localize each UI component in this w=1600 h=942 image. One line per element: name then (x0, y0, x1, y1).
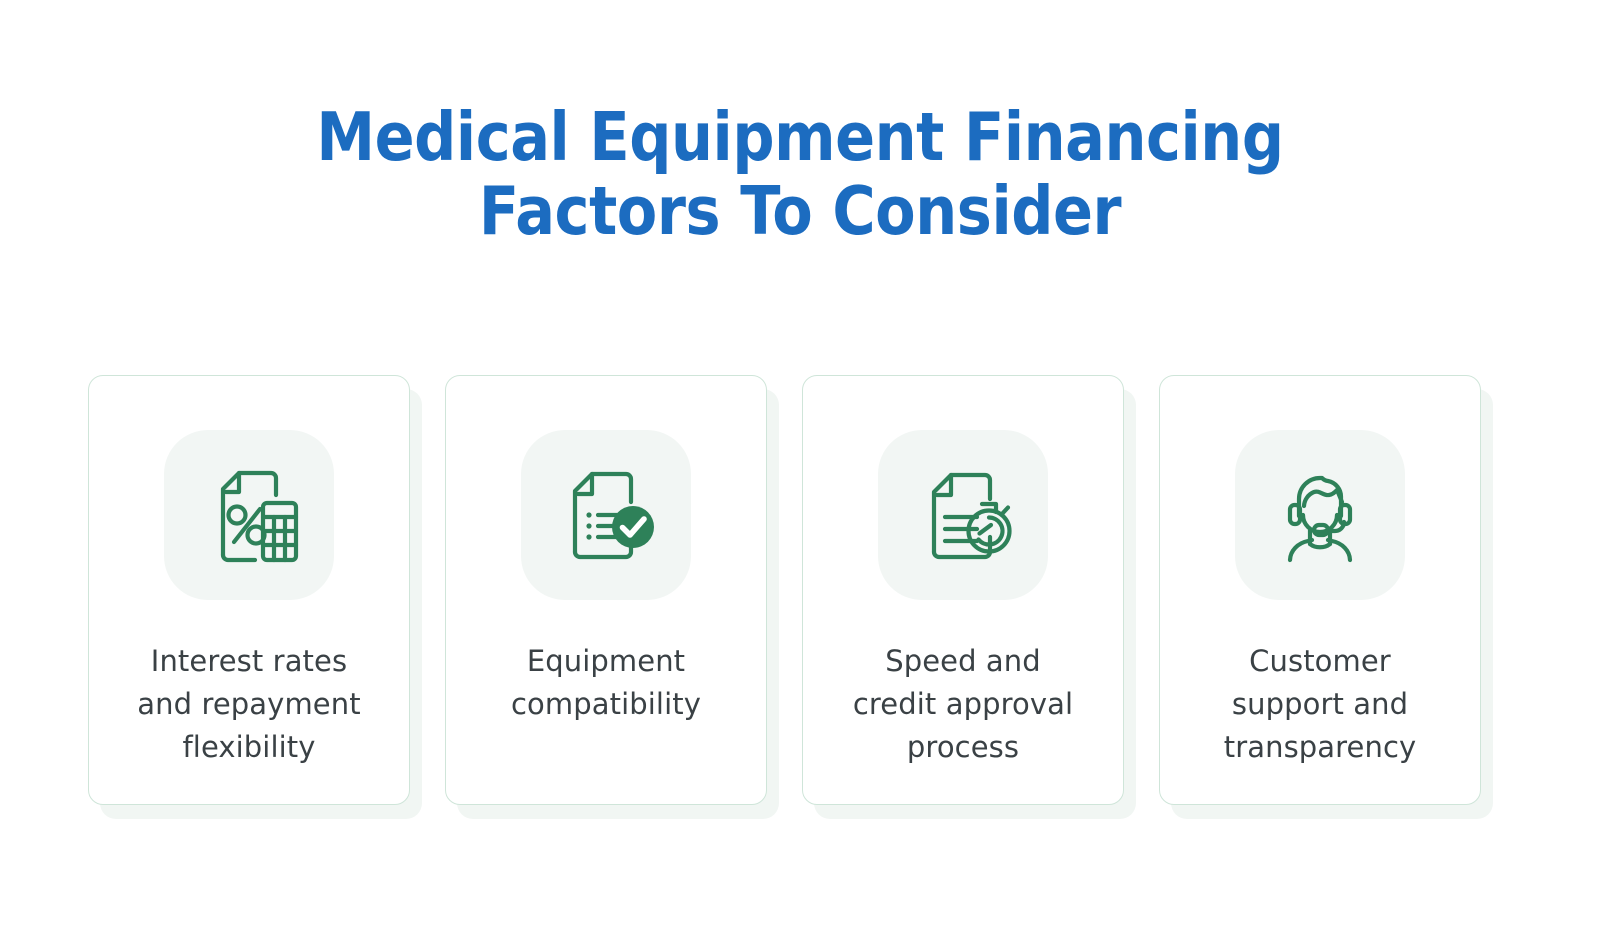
checklist-document-approved-icon (550, 459, 662, 571)
infographic-page: Medical Equipment Financing Factors To C… (0, 0, 1600, 942)
factor-card-label: Speed and credit approval process (833, 640, 1093, 769)
icon-tile (878, 430, 1048, 600)
icon-tile (164, 430, 334, 600)
factor-card-wrapper: Interest rates and repayment flexibility (88, 375, 410, 805)
factor-card-customer-support[interactable]: Customer support and transparency (1159, 375, 1481, 805)
factor-card-wrapper: Equipment compatibility (445, 375, 767, 805)
factor-card-label: Interest rates and repayment flexibility (119, 640, 379, 769)
factor-card-interest-rates[interactable]: Interest rates and repayment flexibility (88, 375, 410, 805)
page-title-line-1: Medical Equipment Financing (96, 100, 1504, 174)
factor-card-speed-approval[interactable]: Speed and credit approval process (802, 375, 1124, 805)
factor-card-wrapper: Customer support and transparency (1159, 375, 1481, 805)
icon-tile (521, 430, 691, 600)
document-stopwatch-icon (907, 459, 1019, 571)
page-title-line-2: Factors To Consider (96, 174, 1504, 248)
page-title: Medical Equipment Financing Factors To C… (0, 100, 1600, 248)
factor-card-label: Equipment compatibility (476, 640, 736, 726)
percent-document-calculator-icon (193, 459, 305, 571)
headset-support-agent-icon (1264, 459, 1376, 571)
factor-card-equipment-compatibility[interactable]: Equipment compatibility (445, 375, 767, 805)
factor-card-label: Customer support and transparency (1190, 640, 1450, 769)
icon-tile (1235, 430, 1405, 600)
factor-cards-row: Interest rates and repayment flexibility (88, 375, 1512, 815)
factor-card-wrapper: Speed and credit approval process (802, 375, 1124, 805)
